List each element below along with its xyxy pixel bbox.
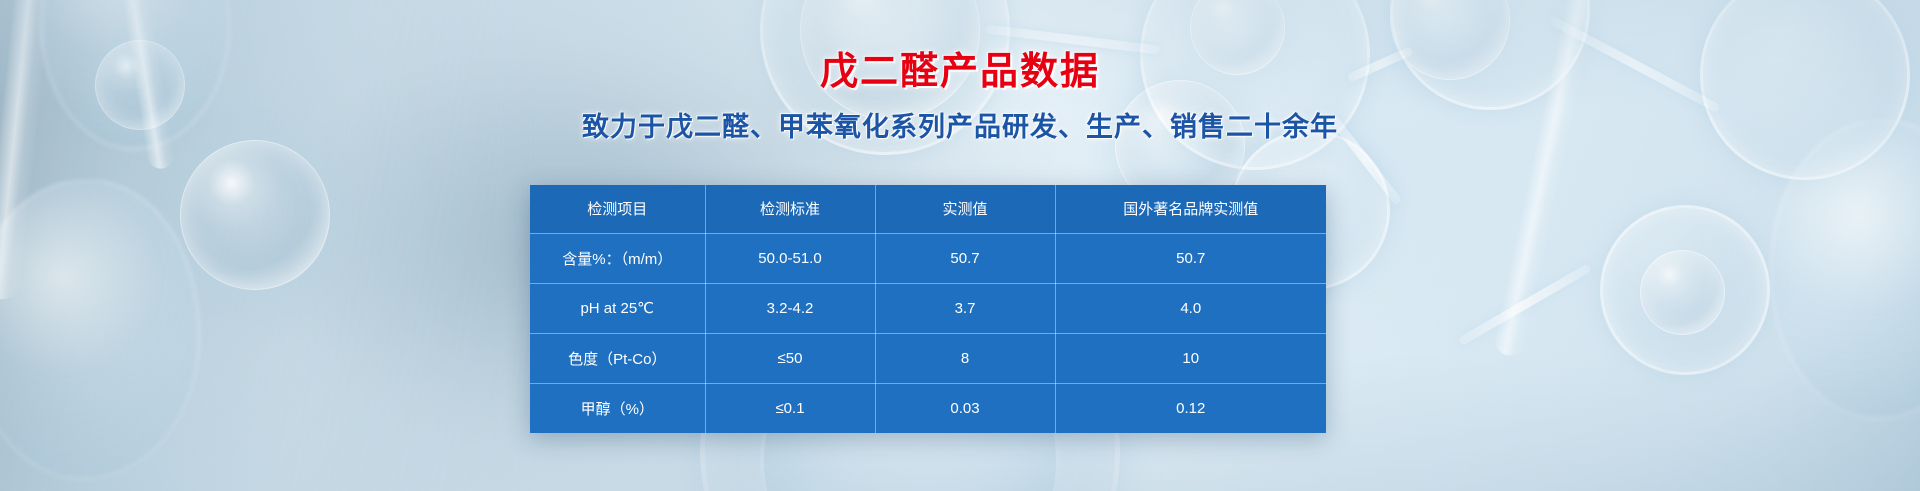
cell-test-standard: 50.0-51.0 [705,233,875,283]
cell-test-item: 甲醇（%） [530,383,705,433]
cell-foreign-brand: 50.7 [1055,233,1326,283]
table-row: 甲醇（%） ≤0.1 0.03 0.12 [530,383,1326,433]
cell-test-standard: ≤50 [705,333,875,383]
cell-measured: 3.7 [875,283,1055,333]
cell-test-item: 色度（Pt-Co） [530,333,705,383]
cell-foreign-brand: 10 [1055,333,1326,383]
cell-measured: 50.7 [875,233,1055,283]
cell-measured: 8 [875,333,1055,383]
cell-test-standard: ≤0.1 [705,383,875,433]
table-body: 含量%：（m/m） 50.0-51.0 50.7 50.7 pH at 25℃ … [530,233,1326,433]
column-header-measured: 实测值 [875,185,1055,233]
cell-test-item: 含量%：（m/m） [530,233,705,283]
table-row: pH at 25℃ 3.2-4.2 3.7 4.0 [530,283,1326,333]
cell-test-standard: 3.2-4.2 [705,283,875,333]
spec-table-container: 检测项目 检测标准 实测值 国外著名品牌实测值 含量%：（m/m） 50.0-5… [530,185,1326,433]
cell-foreign-brand: 4.0 [1055,283,1326,333]
column-header-foreign-brand: 国外著名品牌实测值 [1055,185,1326,233]
cell-foreign-brand: 0.12 [1055,383,1326,433]
table-header-row: 检测项目 检测标准 实测值 国外著名品牌实测值 [530,185,1326,233]
cell-measured: 0.03 [875,383,1055,433]
banner-headings: 戊二醛产品数据 致力于戊二醛、甲苯氧化系列产品研发、生产、销售二十余年 [0,50,1920,144]
column-header-test-standard: 检测标准 [705,185,875,233]
product-spec-table: 检测项目 检测标准 实测值 国外著名品牌实测值 含量%：（m/m） 50.0-5… [530,185,1326,433]
table-row: 色度（Pt-Co） ≤50 8 10 [530,333,1326,383]
table-row: 含量%：（m/m） 50.0-51.0 50.7 50.7 [530,233,1326,283]
page-title: 戊二醛产品数据 [0,50,1920,93]
page-subtitle: 致力于戊二醛、甲苯氧化系列产品研发、生产、销售二十余年 [0,105,1920,144]
table-header: 检测项目 检测标准 实测值 国外著名品牌实测值 [530,185,1326,233]
product-data-banner: 戊二醛产品数据 致力于戊二醛、甲苯氧化系列产品研发、生产、销售二十余年 检测项目… [0,0,1920,491]
cell-test-item: pH at 25℃ [530,283,705,333]
column-header-test-item: 检测项目 [530,185,705,233]
